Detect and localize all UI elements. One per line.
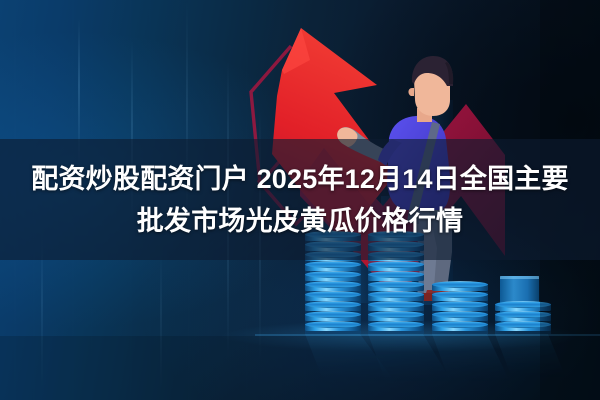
- banner-image: 配资炒股配资门户 2025年12月14日全国主要 批发市场光皮黄瓜价格行情: [0, 0, 600, 400]
- page-title: 配资炒股配资门户 2025年12月14日全国主要 批发市场光皮黄瓜价格行情: [0, 139, 600, 260]
- headline-line-2: 批发市场光皮黄瓜价格行情: [137, 200, 463, 242]
- coin-stack-3: [432, 281, 488, 334]
- headline-line-1: 配资炒股配资门户 2025年12月14日全国主要: [31, 158, 568, 200]
